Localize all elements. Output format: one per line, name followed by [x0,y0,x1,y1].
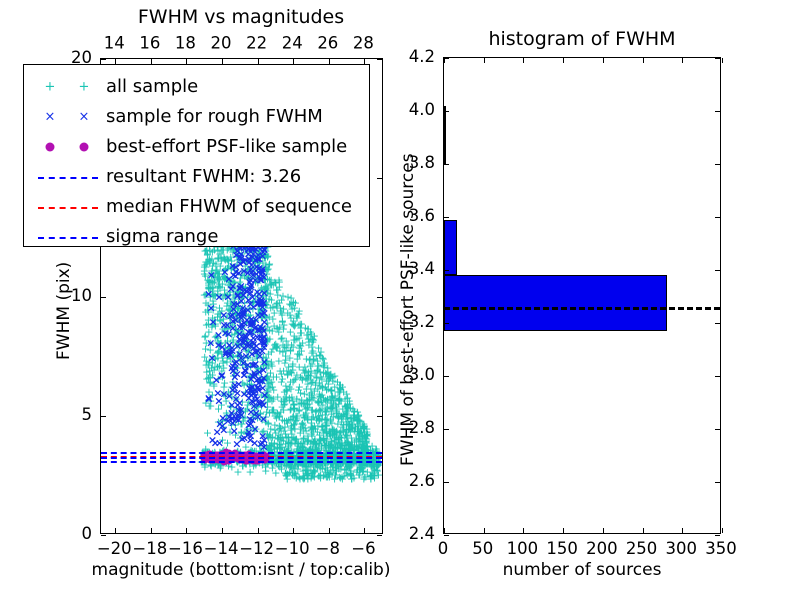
scatter-point-all-sample: + [316,434,325,445]
scatter-point-rough-fwhm: × [255,254,264,265]
scatter-point-rough-fwhm: × [255,324,264,335]
scatter-point-all-sample: + [299,364,308,375]
hist-x-ticklabel: 350 [705,541,737,558]
scatter-point-all-sample: + [205,369,214,380]
scatter-point-all-sample: + [201,289,210,300]
scatter-point-all-sample: + [233,282,242,293]
scatter-point-all-sample: + [286,424,295,435]
scatter-point-all-sample: + [316,380,325,391]
scatter-point-all-sample: + [237,428,246,439]
scatter-point-all-sample: + [274,429,283,440]
scatter-point-all-sample: + [281,346,290,357]
hist-x-ticklabel: 200 [586,541,618,558]
scatter-point-all-sample: + [262,268,271,279]
scatter-point-all-sample: + [356,441,365,452]
scatter-point-all-sample: + [306,422,315,433]
scatter-point-all-sample: + [256,409,265,420]
scatter-point-all-sample: + [206,344,215,355]
scatter-point-all-sample: + [297,345,306,356]
scatter-point-all-sample: + [326,431,335,442]
scatter-point-all-sample: + [309,411,318,422]
scatter-point-all-sample: + [297,438,306,449]
scatter-point-all-sample: + [213,361,222,372]
scatter-point-all-sample: + [213,336,222,347]
scatter-point-all-sample: + [316,404,325,415]
scatter-point-all-sample: + [270,424,279,435]
scatter-point-all-sample: + [335,386,344,397]
scatter-point-all-sample: + [334,413,343,424]
histogram-axes [443,57,721,534]
scatter-point-all-sample: + [318,464,327,475]
scatter-point-all-sample: + [283,438,292,449]
scatter-point-all-sample: + [317,397,326,408]
scatter-point-all-sample: + [343,431,352,442]
scatter-point-rough-fwhm: × [257,295,266,306]
scatter-point-rough-fwhm: × [206,337,215,348]
scatter-point-all-sample: + [327,409,336,420]
scatter-point-all-sample: + [309,423,318,434]
scatter-point-all-sample: + [319,428,328,439]
scatter-point-all-sample: + [253,266,262,277]
scatter-point-all-sample: + [208,354,217,365]
scatter-point-all-sample: + [282,392,291,403]
scatter-point-rough-fwhm: × [233,299,242,310]
scatter-point-all-sample: + [349,472,358,483]
scatter-point-all-sample: + [205,276,214,287]
scatter-point-all-sample: + [336,430,345,441]
scatter-point-all-sample: + [360,427,369,438]
scatter-point-all-sample: + [265,391,274,402]
scatter-point-all-sample: + [357,458,366,469]
scatter-point-all-sample: + [335,382,344,393]
scatter-point-all-sample: + [277,396,286,407]
scatter-point-all-sample: + [236,282,245,293]
scatter-point-all-sample: + [353,423,362,434]
scatter-point-all-sample: + [304,434,313,445]
scatter-point-all-sample: + [263,428,272,439]
scatter-point-all-sample: + [347,473,356,484]
scatter-point-all-sample: + [230,367,239,378]
scatter-point-all-sample: + [310,467,319,478]
scatter-point-all-sample: + [343,392,352,403]
scatter-point-all-sample: + [268,343,277,354]
figure-canvas: ++++++++++++++++++++++++++++++++++++++++… [0,0,800,600]
scatter-point-all-sample: + [235,409,244,420]
scatter-point-rough-fwhm: × [229,269,238,280]
scatter-point-all-sample: + [207,265,216,276]
scatter-point-all-sample: + [280,357,289,368]
hist-y-tick [444,164,449,165]
scatter-point-all-sample: + [322,445,331,456]
scatter-point-all-sample: + [254,376,263,387]
hist-y-ticklabel: 3.4 [409,261,435,278]
scatter-point-all-sample: + [342,407,351,418]
scatter-point-all-sample: + [290,335,299,346]
scatter-point-all-sample: + [342,429,351,440]
hist-y-tick-right [715,376,720,377]
scatter-point-all-sample: + [258,257,267,268]
scatter-point-all-sample: + [262,294,271,305]
scatter-point-all-sample: + [279,405,288,416]
hist-x-tick-top [563,58,564,63]
scatter-point-all-sample: + [208,312,217,323]
scatter-point-rough-fwhm: × [236,282,245,293]
scatter-point-rough-fwhm: × [244,294,253,305]
scatter-point-all-sample: + [313,365,322,376]
scatter-point-all-sample: + [287,435,296,446]
scatter-point-all-sample: + [233,286,242,297]
sigma-range-line-upper [101,452,382,454]
scatter-point-all-sample: + [296,341,305,352]
scatter-point-all-sample: + [330,382,339,393]
scatter-point-all-sample: + [372,458,381,469]
scatter-point-all-sample: + [273,442,282,453]
scatter-point-all-sample: + [226,320,235,331]
scatter-point-all-sample: + [350,441,359,452]
scatter-point-all-sample: + [208,283,217,294]
scatter-point-rough-fwhm: × [256,375,265,386]
scatter-point-all-sample: + [235,312,244,323]
scatter-point-all-sample: + [225,343,234,354]
scatter-point-all-sample: + [348,423,357,434]
scatter-point-all-sample: + [268,404,277,415]
scatter-point-all-sample: + [211,259,220,270]
scatter-point-all-sample: + [217,399,226,410]
right-xaxis-label: number of sources [503,562,662,579]
hist-x-tick-top [523,58,524,63]
scatter-point-rough-fwhm: × [234,378,243,389]
hist-x-tick [722,528,723,533]
scatter-point-all-sample: + [278,290,287,301]
scatter-point-all-sample: + [350,441,359,452]
scatter-point-all-sample: + [303,402,312,413]
scatter-point-all-sample: + [323,464,332,475]
scatter-point-all-sample: + [220,284,229,295]
scatter-point-all-sample: + [352,467,361,478]
scatter-point-rough-fwhm: × [237,312,246,323]
scatter-point-all-sample: + [228,351,237,362]
scatter-point-all-sample: + [292,333,301,344]
scatter-point-all-sample: + [231,292,240,303]
y-ticklabel: 5 [82,407,93,424]
scatter-point-all-sample: + [305,389,314,400]
scatter-point-all-sample: + [215,338,224,349]
scatter-point-all-sample: + [312,366,321,377]
scatter-point-all-sample: + [319,433,328,444]
scatter-point-all-sample: + [285,392,294,403]
hist-y-tick [444,429,449,430]
scatter-point-all-sample: + [326,372,335,383]
scatter-point-all-sample: + [287,431,296,442]
scatter-point-all-sample: + [343,412,352,423]
scatter-point-all-sample: + [373,459,382,470]
scatter-point-all-sample: + [328,430,337,441]
scatter-point-all-sample: + [204,281,213,292]
scatter-point-all-sample: + [200,260,209,271]
scatter-point-all-sample: + [353,407,362,418]
scatter-point-rough-fwhm: × [232,368,241,379]
scatter-point-all-sample: + [343,400,352,411]
legend-entry: ××sample for rough FWHM [32,102,359,132]
scatter-point-rough-fwhm: × [257,269,266,280]
scatter-point-all-sample: + [363,428,372,439]
scatter-point-all-sample: + [342,424,351,435]
scatter-point-rough-fwhm: × [239,337,248,348]
scatter-point-rough-fwhm: × [212,427,221,438]
scatter-point-all-sample: + [342,402,351,413]
scatter-point-all-sample: + [219,251,228,262]
scatter-point-all-sample: + [334,435,343,446]
hist-x-tick-top [682,58,683,63]
scatter-point-all-sample: + [244,396,253,407]
scatter-point-rough-fwhm: × [228,412,237,423]
scatter-point-rough-fwhm: × [254,385,263,396]
scatter-point-all-sample: + [360,471,369,482]
scatter-point-all-sample: + [213,273,222,284]
histogram-bar [444,220,457,276]
scatter-point-all-sample: + [206,337,215,348]
scatter-point-all-sample: + [207,321,216,332]
scatter-point-all-sample: + [307,422,316,433]
scatter-point-rough-fwhm: × [230,380,239,391]
scatter-point-all-sample: + [362,431,371,442]
scatter-point-all-sample: + [277,441,286,452]
scatter-point-all-sample: + [259,309,268,320]
scatter-point-all-sample: + [337,432,346,443]
scatter-point-all-sample: + [320,358,329,369]
scatter-point-all-sample: + [214,346,223,357]
scatter-point-all-sample: + [334,464,343,475]
scatter-point-all-sample: + [288,341,297,352]
scatter-point-all-sample: + [331,469,340,480]
scatter-point-all-sample: + [201,360,210,371]
scatter-point-all-sample: + [234,349,243,360]
scatter-point-all-sample: + [223,255,232,266]
scatter-point-all-sample: + [274,411,283,422]
scatter-point-all-sample: + [227,276,236,287]
scatter-point-rough-fwhm: × [244,387,253,398]
scatter-point-rough-fwhm: × [258,264,267,275]
scatter-point-all-sample: + [227,382,236,393]
scatter-point-rough-fwhm: × [247,384,256,395]
scatter-point-all-sample: + [346,468,355,479]
scatter-point-all-sample: + [267,360,276,371]
scatter-point-rough-fwhm: × [239,309,248,320]
scatter-point-all-sample: + [255,257,264,268]
plus-icon: + [79,81,90,94]
scatter-point-all-sample: + [310,331,319,342]
scatter-point-all-sample: + [296,319,305,330]
scatter-point-rough-fwhm: × [237,309,246,320]
scatter-point-all-sample: + [208,319,217,330]
scatter-point-all-sample: + [228,306,237,317]
scatter-point-all-sample: + [236,290,245,301]
scatter-point-all-sample: + [344,437,353,448]
scatter-point-all-sample: + [237,269,246,280]
y-tick-right [377,59,382,60]
scatter-point-all-sample: + [221,327,230,338]
scatter-point-all-sample: + [343,402,352,413]
scatter-point-all-sample: + [260,285,269,296]
scatter-point-all-sample: + [357,431,366,442]
scatter-point-rough-fwhm: × [230,357,239,368]
scatter-point-all-sample: + [342,425,351,436]
scatter-point-all-sample: + [288,411,297,422]
scatter-point-all-sample: + [321,404,330,415]
scatter-point-all-sample: + [308,333,317,344]
scatter-point-all-sample: + [357,464,366,475]
scatter-point-all-sample: + [223,335,232,346]
scatter-point-rough-fwhm: × [238,255,247,266]
scatter-point-all-sample: + [329,464,338,475]
scatter-point-rough-fwhm: × [230,372,239,383]
scatter-point-rough-fwhm: × [218,420,227,431]
scatter-point-rough-fwhm: × [214,330,223,341]
scatter-point-rough-fwhm: × [246,274,255,285]
scatter-point-rough-fwhm: × [260,389,269,400]
scatter-point-all-sample: + [312,373,321,384]
scatter-point-all-sample: + [292,310,301,321]
scatter-point-all-sample: + [218,352,227,363]
scatter-point-all-sample: + [225,280,234,291]
scatter-point-rough-fwhm: × [255,397,264,408]
scatter-point-all-sample: + [210,290,219,301]
scatter-point-all-sample: + [261,411,270,422]
scatter-point-all-sample: + [259,426,268,437]
hist-x-tick [484,528,485,533]
scatter-point-all-sample: + [296,423,305,434]
scatter-point-all-sample: + [310,367,319,378]
scatter-point-all-sample: + [325,471,334,482]
scatter-point-all-sample: + [273,285,282,296]
scatter-point-all-sample: + [255,298,264,309]
scatter-point-all-sample: + [321,462,330,473]
scatter-point-all-sample: + [344,440,353,451]
scatter-point-all-sample: + [281,351,290,362]
scatter-point-rough-fwhm: × [223,291,232,302]
scatter-point-all-sample: + [226,318,235,329]
scatter-point-rough-fwhm: × [213,387,222,398]
scatter-point-all-sample: + [326,458,335,469]
scatter-point-all-sample: + [231,430,240,441]
scatter-point-all-sample: + [250,315,259,326]
scatter-point-all-sample: + [235,287,244,298]
scatter-point-all-sample: + [350,423,359,434]
scatter-point-all-sample: + [307,395,316,406]
scatter-point-all-sample: + [287,429,296,440]
scatter-point-all-sample: + [307,388,316,399]
scatter-point-all-sample: + [319,360,328,371]
scatter-point-rough-fwhm: × [226,311,235,322]
scatter-point-all-sample: + [323,393,332,404]
scatter-point-all-sample: + [275,410,284,421]
scatter-point-all-sample: + [369,470,378,481]
scatter-point-all-sample: + [218,324,227,335]
scatter-point-all-sample: + [222,352,231,363]
scatter-point-all-sample: + [311,380,320,391]
scatter-point-all-sample: + [335,395,344,406]
scatter-point-all-sample: + [216,337,225,348]
scatter-point-all-sample: + [226,400,235,411]
scatter-point-all-sample: + [336,438,345,449]
scatter-point-all-sample: + [327,403,336,414]
scatter-point-all-sample: + [263,283,272,294]
scatter-point-rough-fwhm: × [246,431,255,442]
scatter-point-all-sample: + [224,275,233,286]
scatter-point-all-sample: + [268,462,277,473]
scatter-point-all-sample: + [262,265,271,276]
scatter-point-all-sample: + [342,433,351,444]
hist-y-tick-right [715,270,720,271]
legend-handle [32,224,106,250]
scatter-point-rough-fwhm: × [258,382,267,393]
scatter-point-all-sample: + [314,360,323,371]
scatter-point-all-sample: + [221,414,230,425]
scatter-point-all-sample: + [214,268,223,279]
scatter-point-rough-fwhm: × [242,285,251,296]
scatter-point-all-sample: + [359,419,368,430]
scatter-point-all-sample: + [271,342,280,353]
scatter-point-all-sample: + [245,302,254,313]
scatter-point-all-sample: + [263,417,272,428]
scatter-point-all-sample: + [261,284,270,295]
scatter-point-all-sample: + [300,462,309,473]
scatter-point-all-sample: + [264,432,273,443]
scatter-point-all-sample: + [295,343,304,354]
scatter-point-rough-fwhm: × [259,298,268,309]
scatter-point-all-sample: + [265,439,274,450]
scatter-point-all-sample: + [327,458,336,469]
scatter-point-all-sample: + [202,367,211,378]
scatter-point-rough-fwhm: × [244,253,253,264]
scatter-point-all-sample: + [358,439,367,450]
scatter-point-rough-fwhm: × [243,304,252,315]
scatter-point-all-sample: + [275,276,284,287]
scatter-point-all-sample: + [282,385,291,396]
scatter-point-all-sample: + [210,314,219,325]
scatter-point-all-sample: + [288,365,297,376]
scatter-point-all-sample: + [329,424,338,435]
scatter-point-all-sample: + [343,436,352,447]
scatter-point-all-sample: + [321,405,330,416]
scatter-point-all-sample: + [204,373,213,384]
scatter-point-all-sample: + [306,472,315,483]
scatter-point-all-sample: + [346,458,355,469]
scatter-point-all-sample: + [221,290,230,301]
scatter-point-all-sample: + [328,427,337,438]
scatter-point-all-sample: + [250,272,259,283]
scatter-point-rough-fwhm: × [231,362,240,373]
scatter-point-all-sample: + [302,372,311,383]
scatter-point-rough-fwhm: × [255,331,264,342]
scatter-point-rough-fwhm: × [225,349,234,360]
scatter-point-all-sample: + [311,406,320,417]
scatter-point-all-sample: + [314,439,323,450]
scatter-point-all-sample: + [276,306,285,317]
scatter-point-all-sample: + [289,297,298,308]
scatter-point-all-sample: + [326,403,335,414]
scatter-point-all-sample: + [244,345,253,356]
scatter-point-rough-fwhm: × [252,341,261,352]
scatter-point-all-sample: + [293,348,302,359]
scatter-point-all-sample: + [363,458,372,469]
scatter-point-all-sample: + [297,395,306,406]
scatter-point-all-sample: + [224,386,233,397]
scatter-point-all-sample: + [212,264,221,275]
scatter-point-all-sample: + [302,394,311,405]
scatter-point-all-sample: + [239,284,248,295]
scatter-point-all-sample: + [230,264,239,275]
